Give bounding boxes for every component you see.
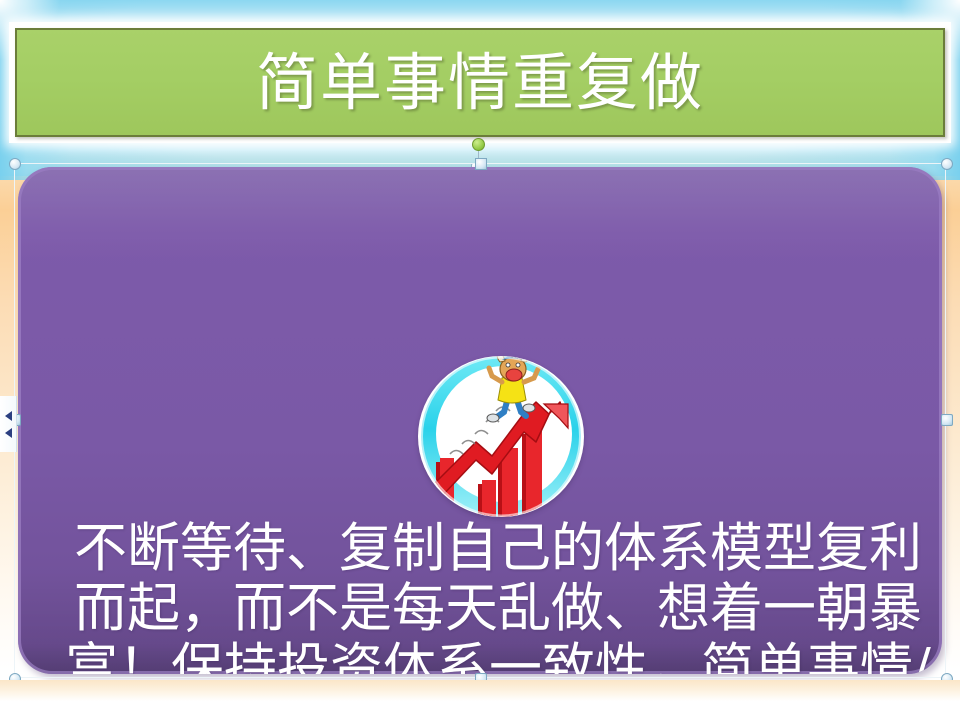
selection-handle-top-right[interactable]: [941, 158, 953, 170]
title-shape[interactable]: 简单事情重复做: [9, 22, 951, 143]
selection-handle-top-left[interactable]: [9, 158, 21, 170]
title-shape-fill: 简单事情重复做: [17, 30, 943, 135]
rotation-handle-icon[interactable]: [472, 138, 485, 151]
arrow-right-icon-top: [5, 411, 12, 421]
title-shape-border: 简单事情重复做: [15, 28, 945, 137]
left-edge-scroll-arrows[interactable]: [0, 396, 17, 452]
selection-handle-right-middle[interactable]: [941, 414, 953, 426]
selection-handle-top-middle[interactable]: [475, 158, 487, 170]
arrow-right-icon-bottom: [5, 428, 12, 438]
body-shape-selection-frame: [14, 163, 946, 678]
slide-canvas: 简单事情重复做: [0, 0, 960, 701]
slide-bottom-fade: [0, 680, 960, 701]
page-title: 简单事情重复做: [256, 52, 704, 114]
